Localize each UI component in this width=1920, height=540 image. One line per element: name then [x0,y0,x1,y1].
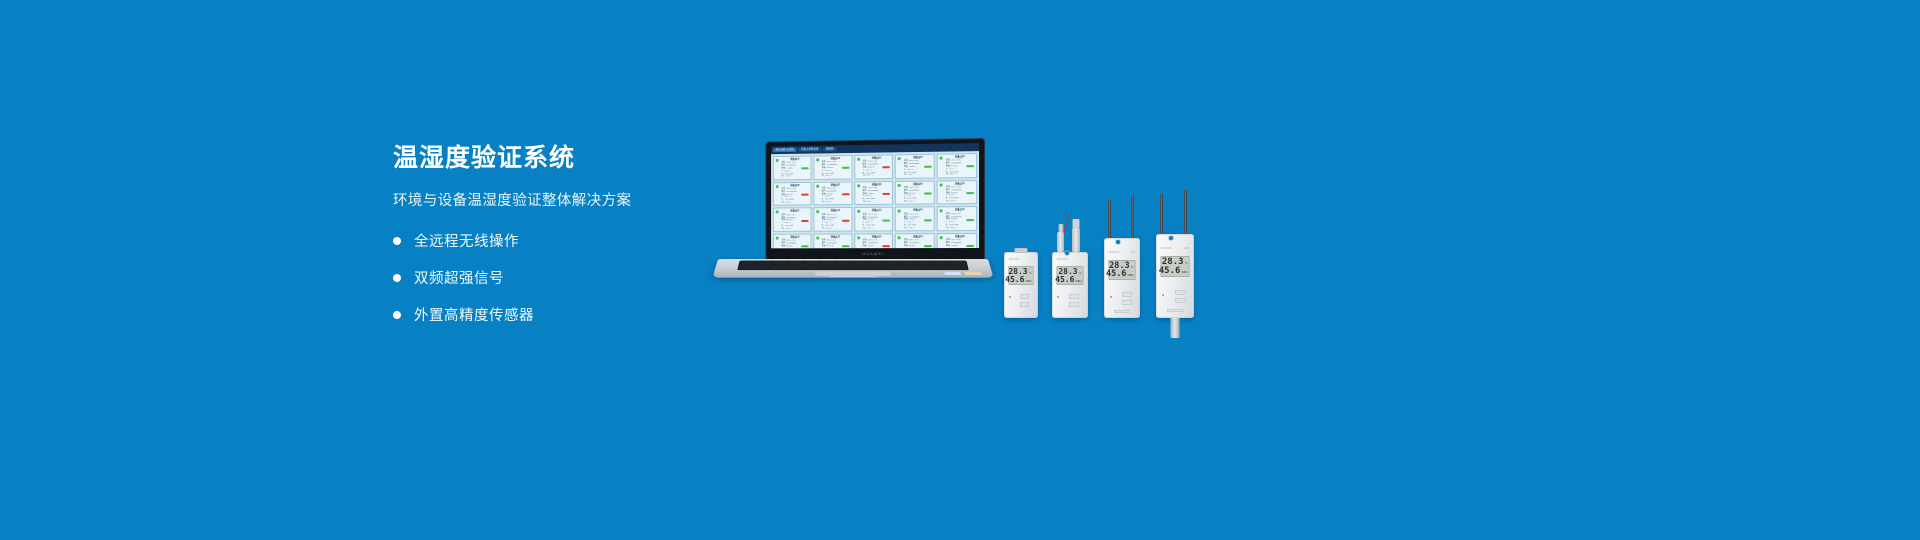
device-button-down[interactable] [1122,300,1132,305]
sensor-card[interactable]: 采集点10名称冷库 CT-10编号1123456010电量74.58%T :28… [937,180,977,205]
device-brand: ENDIN H8 [1109,250,1135,254]
page-title: 温湿度验证系统 [393,143,723,173]
laptop-keyboard[interactable] [737,261,969,271]
sensor-card-title: 采集点10 [946,183,974,186]
sensor-status-led-icon [776,159,779,162]
sensor-dew-row: TD:15.8 ℃ [781,228,808,230]
sensor-device-group: ENDIN 28.3 ℃ 45.6 %RH [1004,186,1214,318]
device-logger-dual-antenna: ENDIN H8 28.3 ℃ 45.6 %RH [1104,238,1140,318]
sensor-card[interactable]: 采集点04名称冷库 CT-04编号1123456004电量73.40%T :28… [895,154,935,179]
sensor-status-led-icon [816,184,819,187]
sensor-card[interactable]: 采集点06名称冷库 CT-06编号1123456006电量88.73%T :28… [773,182,811,206]
filter-probe [1072,228,1080,252]
probe-filter-cap [1073,219,1080,228]
humidity-reading: 45.6 %RH [1059,276,1082,284]
sensor-dew-row: TD:15.8 ℃ [904,174,932,177]
feature-label: 全远程无线操作 [414,230,519,251]
sensor-card-title: 采集点05 [946,156,974,159]
sensor-card-title: 采集点01 [781,159,808,162]
sensor-card[interactable]: 采集点14名称冷库 CT-14编号1123456014电量72.63%T :28… [895,207,935,232]
laptop-brand-label: HUAWEI [765,248,985,259]
laptop-screen: 验证系统·主页面 采集点参数设置 曲线图 采集点01名称冷库 CT-01编号11… [771,143,979,248]
feature-label: 外置高精度传感器 [414,304,534,325]
sensor-card-title: 采集点07 [822,184,849,187]
bullet-icon [393,274,401,282]
bullet-icon [393,311,401,319]
promo-banner: 温湿度验证系统 环境与设备温湿度验证整体解决方案 全远程无线操作 双频超强信号 … [0,0,1920,540]
keyboard-key[interactable] [770,268,785,269]
sensor-card[interactable]: 采集点18名称冷库 CT-18编号1123456018电量78.24%T :28… [854,233,893,248]
sensor-card[interactable]: 采集点17名称冷库 CT-17编号1123456017电量84.77%T :28… [813,234,852,249]
status-led-icon [1162,294,1164,296]
device-button-up[interactable] [1122,292,1132,297]
sensor-status-led-icon [816,158,819,161]
sensor-status-led-icon [940,210,943,213]
probe-head [1058,224,1063,232]
sensor-card[interactable]: 采集点09名称冷库 CT-09编号1123456009电量83.21%T :28… [895,180,935,205]
sensor-dew-row: TD:15.8 ℃ [946,200,974,203]
device-brand: ENDIN H8 [1161,246,1189,250]
sensor-card[interactable]: 采集点07名称冷库 CT-07编号1123456007电量91.36%T :28… [813,181,852,206]
antenna-right [1184,189,1187,234]
sensor-card-title: 采集点11 [781,211,808,214]
device-logger-compact: ENDIN 28.3 ℃ 45.6 %RH [1004,252,1038,318]
device-button-up[interactable] [1020,294,1029,299]
sensor-dew-row: TD:15.8 ℃ [863,227,891,229]
humidity-reading: 45.6 %RH [1011,276,1032,284]
sensor-card[interactable]: 采集点13名称冷库 CT-13编号1123456013电量87.19%T :28… [854,207,893,232]
sensor-card-title: 采集点06 [781,185,808,188]
sensor-dew-row: TD:15.8 ℃ [863,201,891,203]
antenna-left [1108,200,1111,238]
sensor-card-title: 采集点14 [904,210,932,213]
sensor-card-title: 采集点04 [904,157,932,160]
sensor-card-title: 采集点15 [946,209,974,212]
sensor-status-led-icon [898,210,901,213]
sensor-card-title: 采集点20 [946,236,974,238]
sensor-status-led-icon [940,236,943,239]
sensor-status-led-icon [816,237,819,240]
sensor-card-title: 采集点13 [863,210,891,213]
laptop-lid: 验证系统·主页面 采集点参数设置 曲线图 采集点01名称冷库 CT-01编号11… [765,138,985,260]
sensor-status-led-icon [898,157,901,160]
sensor-card-title: 采集点09 [904,183,932,186]
device-brand: ENDIN [1057,257,1083,261]
device-button-up[interactable] [1175,290,1186,295]
sensor-dew-row: TD:15.8 ℃ [781,202,808,204]
sensor-status-led-icon [816,211,819,214]
keyboard-key[interactable] [921,268,936,269]
hanging-hole [1065,251,1069,255]
device-button-down[interactable] [1069,302,1079,307]
page-subtitle: 环境与设备温湿度验证整体解决方案 [393,189,723,210]
sensor-dew-row: TD:15.8 ℃ [946,174,974,177]
sensor-card[interactable]: 采集点05名称冷库 CT-05编号1123456005电量65.12%T :28… [937,153,977,178]
bottom-probe [1171,318,1180,338]
sensor-dew-row: TD:15.8 ℃ [904,227,932,229]
hanging-hole [1169,236,1173,240]
laptop-product-image: 验证系统·主页面 采集点参数设置 曲线图 采集点01名称冷库 CT-01编号11… [718,138,988,298]
sensor-card[interactable]: 采集点12名称冷库 CT-12编号1123456012电量95.82%T :28… [813,207,852,231]
wired-probe [1057,232,1064,252]
keyboard-row [738,268,967,269]
sensor-dew-row: TD:15.8 ℃ [946,227,974,229]
device-label-strip [1167,309,1184,312]
tab-main[interactable]: 验证系统·主页面 [773,148,797,153]
sensor-status-led-icon [898,184,901,187]
sensor-card-title: 采集点08 [863,184,891,187]
sensor-card[interactable]: 采集点16名称冷库 CT-16编号1123456016电量66.90%T :28… [773,234,811,249]
marketing-copy: 温湿度验证系统 环境与设备温湿度验证整体解决方案 全远程无线操作 双频超强信号 … [393,143,723,325]
humidity-reading: 45.6 %RH [1163,267,1188,276]
device-lcd-display: 28.3 ℃ 45.6 %RH [1009,266,1034,285]
sensor-card[interactable]: 采集点03名称冷库 CT-03编号1123456003电量81.05%T :28… [854,154,893,179]
sensor-card[interactable]: 采集点11名称冷库 CT-11编号1123456011电量69.07%T :28… [773,208,811,232]
keyboard-key[interactable] [754,268,769,269]
sensor-status-led-icon [857,184,860,187]
tab-chart[interactable]: 曲线图 [823,147,836,152]
sensor-status-led-icon [898,236,901,239]
sensor-dew-row: TD:15.8 ℃ [904,201,932,204]
status-led-icon [1009,296,1011,298]
device-button-down[interactable] [1175,298,1186,303]
bullet-icon [393,237,401,245]
antenna-right [1131,195,1134,238]
device-lcd-display: 28.3 ℃ 45.6 %RH [1057,266,1084,285]
device-logger-external-probe: ENDIN 28.3 ℃ 45.6 %RH [1052,252,1088,318]
sensor-card-title: 采集点02 [822,158,849,161]
laptop-sticker-spec [943,272,961,275]
humidity-reading: 45.6 %RH [1111,270,1134,279]
keyboard-key[interactable] [905,268,920,269]
keyboard-key[interactable] [738,268,753,269]
sensor-card[interactable]: 采集点20名称冷库 CT-20编号1123456020电量71.46%T :28… [937,233,977,248]
sensor-dew-row: TD:15.8 ℃ [781,175,808,178]
sensor-card[interactable]: 采集点02名称冷库 CT-02编号1123456002电量96.11%T :28… [813,155,852,180]
device-button-down[interactable] [1020,302,1029,307]
sensor-card-title: 采集点12 [822,210,849,213]
feature-label: 双频超强信号 [414,267,504,288]
sensor-card[interactable]: 采集点01名称冷库 CT-01编号1123456001电量77.20%T :28… [773,156,811,181]
keyboard-key[interactable] [953,268,968,269]
sensor-card[interactable]: 采集点08名称冷库 CT-08编号1123456008电量79.44%T :28… [854,181,893,206]
sensor-card-grid: 采集点01名称冷库 CT-01编号1123456001电量77.20%T :28… [771,151,979,248]
sensor-card-title: 采集点16 [781,237,808,239]
keyboard-key[interactable] [937,268,952,269]
list-item: 外置高精度传感器 [393,304,723,325]
device-label-strip [1114,310,1130,313]
device-lcd-display: 28.3 ℃ 45.6 %RH [1161,256,1190,277]
sensor-status-led-icon [776,211,779,214]
sensor-status-led-icon [776,185,779,188]
status-led-icon [1110,296,1112,298]
device-button-up[interactable] [1069,294,1079,299]
keyboard-key[interactable] [786,268,801,269]
sensor-card[interactable]: 采集点19名称冷库 CT-19编号1123456019电量93.58%T :28… [895,233,935,248]
sensor-status-led-icon [940,157,943,160]
sensor-card[interactable]: 采集点15名称冷库 CT-15编号1123456015电量90.35%T :28… [937,206,977,231]
list-item: 全远程无线操作 [393,230,723,251]
hanging-hole [1116,240,1120,244]
sensor-status-led-icon [940,183,943,186]
device-logger-dual-antenna-probe: ENDIN H8 28.3 ℃ 45.6 %RH [1156,234,1194,318]
antenna-left [1160,194,1163,234]
sensor-dew-row: TD:15.8 ℃ [822,175,849,178]
sensor-card-title: 采集点19 [904,236,932,238]
sensor-status-led-icon [857,236,860,239]
sensor-dew-row: TD:15.8 ℃ [822,227,849,229]
sensor-status-led-icon [776,237,779,240]
status-led-icon [1057,296,1059,298]
hanging-clip [1015,248,1028,253]
sensor-card-title: 采集点17 [822,237,849,239]
laptop-front-lip [829,276,877,277]
sensor-status-led-icon [857,158,860,161]
device-lcd-display: 28.3 ℃ 45.6 %RH [1109,260,1136,280]
keyboard-key[interactable] [801,268,904,269]
tab-settings[interactable]: 采集点参数设置 [798,147,821,152]
feature-list: 全远程无线操作 双频超强信号 外置高精度传感器 [393,230,723,325]
list-item: 双频超强信号 [393,267,723,288]
sensor-dew-row: TD:15.8 ℃ [822,201,849,203]
laptop-sticker-brand [964,272,982,275]
sensor-status-led-icon [857,210,860,213]
sensor-dew-row: TD:15.8 ℃ [863,175,891,178]
laptop-base [712,259,993,278]
device-brand: ENDIN [1009,257,1033,261]
